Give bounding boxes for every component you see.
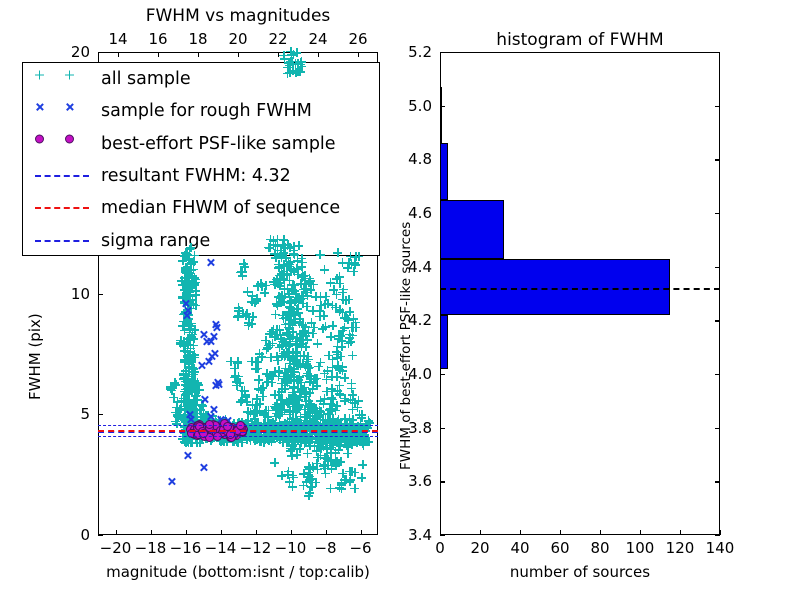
hist-x-tick-label: 20 bbox=[470, 539, 489, 557]
y-tick-left bbox=[98, 414, 103, 415]
hist-y-tick-right bbox=[715, 267, 720, 268]
median-fwhm-line bbox=[98, 430, 378, 432]
x-tick-top bbox=[318, 52, 319, 57]
y-tick-label-left: 20 bbox=[71, 43, 90, 61]
x-tick-top bbox=[278, 52, 279, 57]
hist-y-tick-right bbox=[715, 481, 720, 482]
legend-label: all sample bbox=[101, 69, 191, 89]
dashdot-blue-line-icon bbox=[35, 240, 89, 242]
histogram-bar bbox=[440, 259, 670, 315]
hist-x-tick-label: 80 bbox=[590, 539, 609, 557]
x-tick-label-top: 26 bbox=[348, 30, 367, 48]
hist-x-tick bbox=[640, 530, 641, 535]
hist-x-tick bbox=[520, 530, 521, 535]
histogram-bar bbox=[440, 200, 504, 259]
hist-y-tick-label: 4.6 bbox=[408, 204, 432, 222]
plus-marker-icon bbox=[35, 70, 44, 79]
hist-x-tick bbox=[560, 530, 561, 535]
x-tick-label-top: 18 bbox=[188, 30, 207, 48]
hist-y-tick bbox=[440, 481, 445, 482]
x-tick-label-top: 14 bbox=[108, 30, 127, 48]
x-tick-bottom bbox=[151, 530, 152, 535]
hist-y-tick-right bbox=[715, 106, 720, 107]
hist-y-tick bbox=[440, 374, 445, 375]
legend-entry[interactable]: resultant FWHM: 4.32 bbox=[23, 160, 379, 192]
histogram-bar bbox=[440, 143, 448, 199]
x-tick-label-bottom: −16 bbox=[170, 539, 202, 557]
x-tick-label-bottom: −8 bbox=[314, 539, 336, 557]
hist-x-tick bbox=[480, 530, 481, 535]
hist-y-tick-right bbox=[715, 374, 720, 375]
legend-entry[interactable]: sigma range bbox=[23, 225, 379, 257]
y-tick-left bbox=[98, 294, 103, 295]
hist-y-tick-label: 3.8 bbox=[408, 419, 432, 437]
plus-marker-icon bbox=[65, 70, 74, 79]
dashed-blue-line-icon bbox=[35, 175, 89, 177]
hist-y-tick-label: 5.0 bbox=[408, 97, 432, 115]
x-tick-label-bottom: −14 bbox=[205, 539, 237, 557]
x-tick-label-bottom: −20 bbox=[100, 539, 132, 557]
hist-y-tick-label: 3.6 bbox=[408, 472, 432, 490]
x-tick-label-bottom: −18 bbox=[135, 539, 167, 557]
legend-box: all samplesample for rough FWHMbest-effo… bbox=[22, 62, 380, 256]
hist-x-tick-label: 100 bbox=[626, 539, 655, 557]
x-marker-icon bbox=[65, 102, 74, 111]
y-tick-label-left: 5 bbox=[80, 405, 90, 423]
sigma-range-upper-line bbox=[98, 425, 378, 426]
hist-y-tick-right bbox=[715, 213, 720, 214]
x-tick-bottom bbox=[326, 530, 327, 535]
hist-y-tick bbox=[440, 535, 445, 536]
y-tick-label-left: 10 bbox=[71, 285, 90, 303]
hist-x-tick-label: 0 bbox=[435, 539, 445, 557]
x-tick-top bbox=[158, 52, 159, 57]
x-tick-top bbox=[238, 52, 239, 57]
histogram-bar bbox=[440, 315, 448, 369]
hist-y-tick-label: 4.4 bbox=[408, 258, 432, 276]
x-tick-label-bottom: −6 bbox=[349, 539, 371, 557]
hist-y-tick-label: 4.2 bbox=[408, 311, 432, 329]
x-tick-label-top: 20 bbox=[228, 30, 247, 48]
x-tick-top bbox=[198, 52, 199, 57]
hist-y-tick-label: 4.0 bbox=[408, 365, 432, 383]
hist-x-tick-label: 40 bbox=[510, 539, 529, 557]
hist-y-tick-right bbox=[715, 428, 720, 429]
x-tick-bottom bbox=[291, 530, 292, 535]
right-panel-xlabel: number of sources bbox=[510, 563, 650, 581]
hist-resultant-fwhm-line bbox=[440, 288, 720, 290]
circle-marker-icon bbox=[65, 135, 74, 144]
histogram-bar bbox=[440, 87, 442, 143]
hist-y-tick-right bbox=[715, 52, 720, 53]
x-tick-bottom bbox=[186, 530, 187, 535]
left-panel-title: FWHM vs magnitudes bbox=[146, 6, 331, 26]
x-tick-label-bottom: −12 bbox=[240, 539, 272, 557]
legend-entry[interactable]: all sample bbox=[23, 63, 379, 95]
hist-x-tick bbox=[600, 530, 601, 535]
dashed-red-line-icon bbox=[35, 207, 89, 209]
hist-x-tick-label: 140 bbox=[706, 539, 735, 557]
x-tick-label-top: 24 bbox=[308, 30, 327, 48]
legend-label: best-effort PSF-like sample bbox=[101, 134, 336, 154]
legend-label: resultant FWHM: 4.32 bbox=[101, 166, 291, 186]
hist-x-tick-label: 120 bbox=[666, 539, 695, 557]
left-panel-xlabel: magnitude (bottom:isnt / top:calib) bbox=[106, 563, 370, 581]
x-tick-bottom bbox=[361, 530, 362, 535]
hist-y-tick bbox=[440, 428, 445, 429]
left-panel-ylabel: FWHM (pix) bbox=[26, 313, 44, 400]
hist-x-tick bbox=[720, 530, 721, 535]
x-tick-label-top: 16 bbox=[148, 30, 167, 48]
circle-marker-icon bbox=[35, 135, 44, 144]
x-marker-icon bbox=[35, 102, 44, 111]
x-tick-bottom bbox=[116, 530, 117, 535]
hist-x-tick-label: 60 bbox=[550, 539, 569, 557]
legend-label: sample for rough FWHM bbox=[101, 101, 312, 121]
hist-x-tick bbox=[680, 530, 681, 535]
y-tick-left bbox=[98, 535, 103, 536]
x-tick-bottom bbox=[256, 530, 257, 535]
sigma-range-lower-line bbox=[98, 436, 378, 437]
hist-y-tick-right bbox=[715, 535, 720, 536]
legend-label: sigma range bbox=[101, 231, 210, 251]
legend-entry[interactable]: best-effort PSF-like sample bbox=[23, 128, 379, 160]
y-tick-label-left: 0 bbox=[80, 526, 90, 544]
hist-y-tick-label: 5.2 bbox=[408, 43, 432, 61]
x-tick-top bbox=[118, 52, 119, 57]
x-tick-label-top: 22 bbox=[268, 30, 287, 48]
x-tick-bottom bbox=[221, 530, 222, 535]
x-tick-label-bottom: −10 bbox=[275, 539, 307, 557]
legend-entry[interactable]: sample for rough FWHM bbox=[23, 95, 379, 127]
y-tick-left bbox=[98, 52, 103, 53]
legend-label: median FHWM of sequence bbox=[101, 198, 340, 218]
right-panel-title: histogram of FWHM bbox=[496, 30, 663, 50]
hist-y-tick-label: 4.8 bbox=[408, 150, 432, 168]
hist-y-tick-right bbox=[715, 320, 720, 321]
hist-y-tick-label: 3.4 bbox=[408, 526, 432, 544]
hist-y-tick bbox=[440, 52, 445, 53]
hist-y-tick-right bbox=[715, 159, 720, 160]
legend-entry[interactable]: median FHWM of sequence bbox=[23, 192, 379, 224]
x-tick-top bbox=[358, 52, 359, 57]
